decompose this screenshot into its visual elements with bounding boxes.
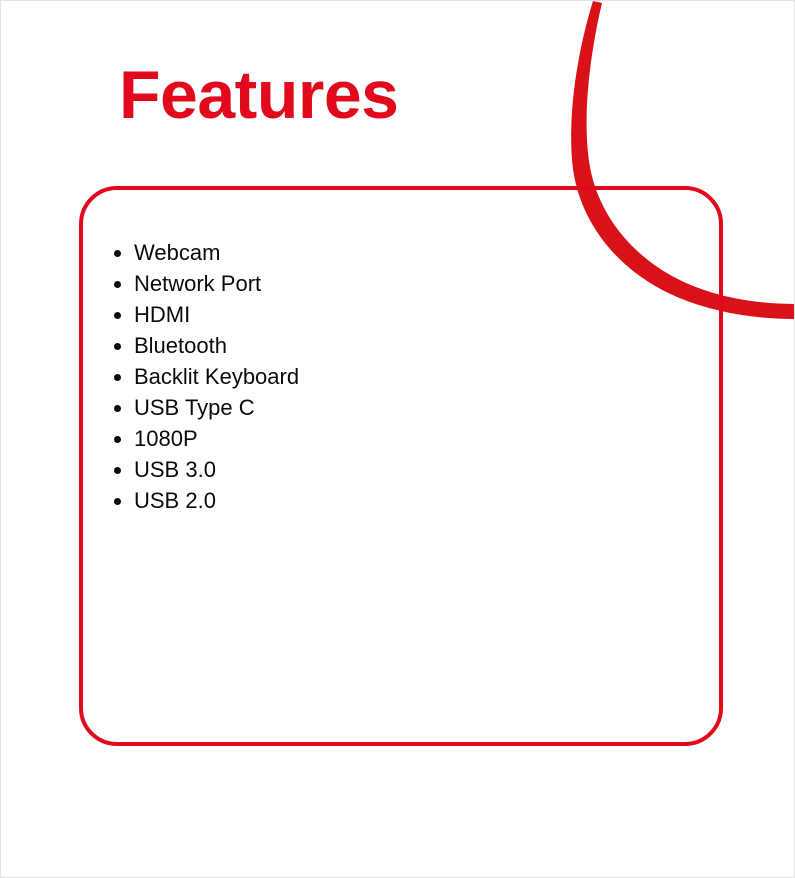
list-item-label: 1080P (134, 426, 198, 451)
list-item: Network Port (113, 268, 299, 299)
list-item-label: Bluetooth (134, 333, 227, 358)
list-item: 1080P (113, 423, 299, 454)
bullet-icon (114, 281, 121, 288)
list-item-label: HDMI (134, 302, 190, 327)
bullet-icon (114, 343, 121, 350)
bullet-icon (114, 467, 121, 474)
slide-canvas: Features Webcam Network Port HDMI Blueto… (0, 0, 795, 878)
list-item: Backlit Keyboard (113, 361, 299, 392)
list-item: USB Type C (113, 392, 299, 423)
list-item: HDMI (113, 299, 299, 330)
features-list: Webcam Network Port HDMI Bluetooth Backl… (113, 237, 299, 516)
list-item-label: Webcam (134, 240, 220, 265)
bullet-icon (114, 250, 121, 257)
list-item-label: USB Type C (134, 395, 255, 420)
page-title: Features (119, 61, 398, 129)
list-item: Webcam (113, 237, 299, 268)
list-item-label: USB 2.0 (134, 488, 216, 513)
list-item: USB 2.0 (113, 485, 299, 516)
list-item-label: Network Port (134, 271, 261, 296)
list-item: Bluetooth (113, 330, 299, 361)
list-item: USB 3.0 (113, 454, 299, 485)
list-item-label: USB 3.0 (134, 457, 216, 482)
list-item-label: Backlit Keyboard (134, 364, 299, 389)
bullet-icon (114, 374, 121, 381)
bullet-icon (114, 312, 121, 319)
bullet-icon (114, 405, 121, 412)
bullet-icon (114, 436, 121, 443)
bullet-icon (114, 498, 121, 505)
